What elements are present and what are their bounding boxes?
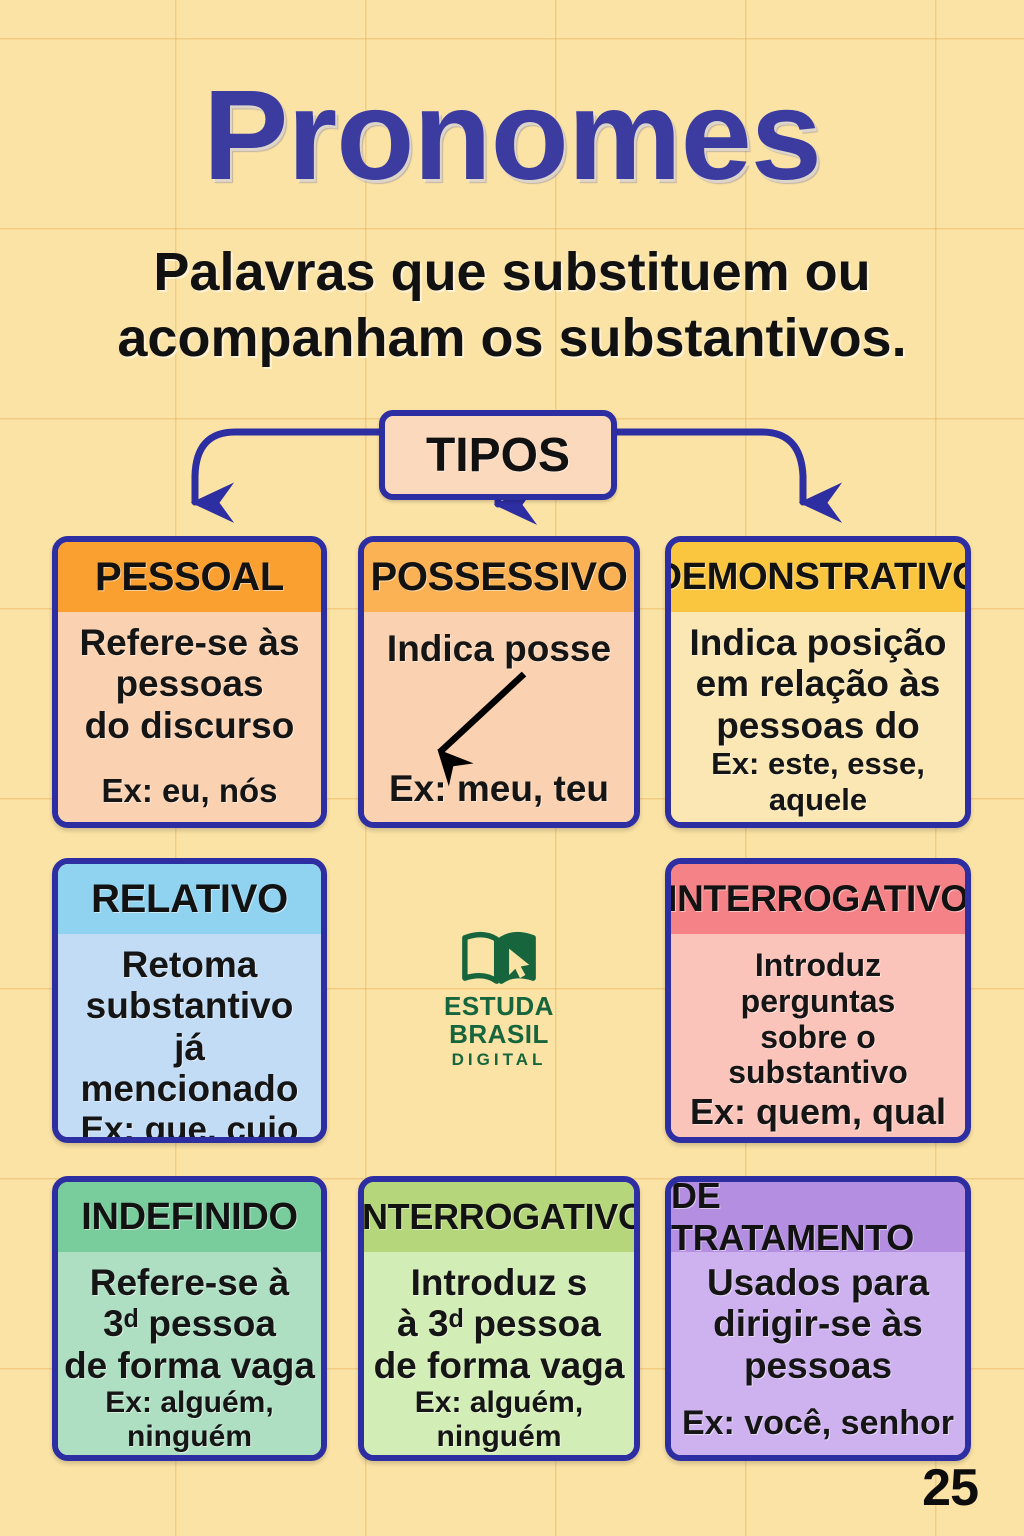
desc-line: Usados para: [677, 1262, 959, 1303]
card-header-interrogativo-rosa: INTERROGATIVO: [671, 864, 965, 934]
card-description: Indica posse: [370, 628, 628, 669]
card-demonstrativo[interactable]: DEMONSTRATIVO Indica posição em relação …: [665, 536, 971, 828]
open-book-cursor-icon: [457, 930, 541, 987]
card-indefinido[interactable]: INDEFINIDO Refere-se à 3ᵈ pessoa de form…: [52, 1176, 327, 1461]
card-example: Ex: alguém, ninguém: [64, 1386, 315, 1454]
card-title: RELATIVO: [91, 877, 288, 922]
desc-line: sobre o substantivo: [677, 1020, 959, 1092]
card-example: Ex: alguém, ninguém: [370, 1386, 628, 1454]
desc-line: Introduz perguntas: [677, 948, 959, 1020]
desc-line: pessoas: [64, 663, 315, 704]
desc-line: de forma vaga: [64, 1345, 315, 1386]
brand-logo: ESTUDA BRASIL DIGITAL: [421, 930, 577, 1070]
card-description: Introduz perguntas sobre o substantivo: [677, 948, 959, 1091]
desc-line: Refere-se às: [64, 622, 315, 663]
desc-line: já mencionado: [64, 1027, 315, 1110]
desc-line: pessoas do: [677, 705, 959, 746]
card-example: Ex: quem, qual: [677, 1091, 959, 1133]
card-example: Ex: eu, nós: [64, 772, 315, 810]
card-header-interrogativo-verde: INTERROGATIVO: [364, 1182, 634, 1252]
card-description: Indica posição em relação às pessoas do: [677, 622, 959, 746]
desc-line: Indica posição: [677, 622, 959, 663]
desc-line: Refere-se à: [64, 1262, 315, 1303]
desc-line: substantivo: [64, 985, 315, 1026]
card-header-relativo: RELATIVO: [58, 864, 321, 934]
card-description: Introduz s à 3ᵈ pessoa de forma vaga: [370, 1262, 628, 1386]
desc-line: pessoas: [677, 1345, 959, 1386]
tipos-node[interactable]: TIPOS: [379, 410, 617, 500]
desc-line: do discurso: [64, 705, 315, 746]
logo-line-1: ESTUDA: [444, 993, 554, 1020]
card-title: POSSESSIVO: [370, 555, 627, 600]
page-subtitle: Palavras que substituem ou acompanham os…: [60, 240, 964, 372]
desc-line: Indica posse: [370, 628, 628, 669]
page-title: Pronomes: [0, 72, 1024, 200]
desc-line: de forma vaga: [370, 1345, 628, 1386]
card-description: Retoma substantivo já mencionado: [64, 944, 315, 1110]
page-number: 25: [922, 1458, 978, 1518]
card-header-possessivo: POSSESSIVO: [364, 542, 634, 612]
card-example: Ex: você, senhor: [677, 1404, 959, 1443]
desc-line: 3ᵈ pessoa: [64, 1303, 315, 1344]
tipos-label: TIPOS: [426, 428, 570, 483]
card-body-possessivo: Indica posse Ex: meu, teu: [364, 612, 634, 822]
card-body-pessoal: Refere-se às pessoas do discurso Ex: eu,…: [58, 612, 321, 822]
card-possessivo[interactable]: POSSESSIVO Indica posse Ex: meu, teu: [358, 536, 640, 828]
card-title: DE TRATAMENTO: [671, 1176, 965, 1259]
desc-line: Retoma: [64, 944, 315, 985]
card-interrogativo-rosa[interactable]: INTERROGATIVO Introduz perguntas sobre o…: [665, 858, 971, 1143]
card-example: Ex: meu, teu: [370, 768, 628, 810]
card-description: Refere-se às pessoas do discurso: [64, 622, 315, 746]
card-body-demonstrativo: Indica posição em relação às pessoas do …: [671, 612, 965, 828]
card-body-de-tratamento: Usados para dirigir-se às pessoas Ex: vo…: [671, 1252, 965, 1455]
card-header-indefinido: INDEFINIDO: [58, 1182, 321, 1252]
card-title: INDEFINIDO: [81, 1196, 298, 1239]
logo-line-3: DIGITAL: [452, 1050, 547, 1070]
card-body-relativo: Retoma substantivo já mencionado Ex: que…: [58, 934, 321, 1143]
card-example: Ex: que, cujo: [64, 1110, 315, 1143]
desc-line: dirigir-se às: [677, 1303, 959, 1344]
desc-line: à 3ᵈ pessoa: [370, 1303, 628, 1344]
card-pessoal[interactable]: PESSOAL Refere-se às pessoas do discurso…: [52, 536, 327, 828]
card-example: Ex: este, esse, aquele: [677, 746, 959, 818]
card-relativo[interactable]: RELATIVO Retoma substantivo já mencionad…: [52, 858, 327, 1143]
card-title: INTERROGATIVO: [358, 1196, 640, 1238]
card-title: PESSOAL: [95, 555, 284, 600]
card-de-tratamento[interactable]: DE TRATAMENTO Usados para dirigir-se às …: [665, 1176, 971, 1461]
card-interrogativo-verde[interactable]: INTERROGATIVO Introduz s à 3ᵈ pessoa de …: [358, 1176, 640, 1461]
infographic-sheet: Pronomes Palavras que substituem ou acom…: [0, 0, 1024, 1536]
card-body-indefinido: Refere-se à 3ᵈ pessoa de forma vaga Ex: …: [58, 1252, 321, 1461]
desc-line: Introduz s: [370, 1262, 628, 1303]
card-body-interrogativo-rosa: Introduz perguntas sobre o substantivo E…: [671, 934, 965, 1143]
card-title: INTERROGATIVO: [667, 878, 969, 920]
logo-line-2: BRASIL: [449, 1021, 549, 1048]
desc-line: em relação às: [677, 663, 959, 704]
card-header-pessoal: PESSOAL: [58, 542, 321, 612]
card-body-interrogativo-verde: Introduz s à 3ᵈ pessoa de forma vaga Ex:…: [364, 1252, 634, 1461]
card-header-demonstrativo: DEMONSTRATIVO: [671, 542, 965, 612]
card-header-de-tratamento: DE TRATAMENTO: [671, 1182, 965, 1252]
card-title: DEMONSTRATIVO: [665, 556, 971, 599]
card-description: Refere-se à 3ᵈ pessoa de forma vaga: [64, 1262, 315, 1386]
card-description: Usados para dirigir-se às pessoas: [677, 1262, 959, 1386]
